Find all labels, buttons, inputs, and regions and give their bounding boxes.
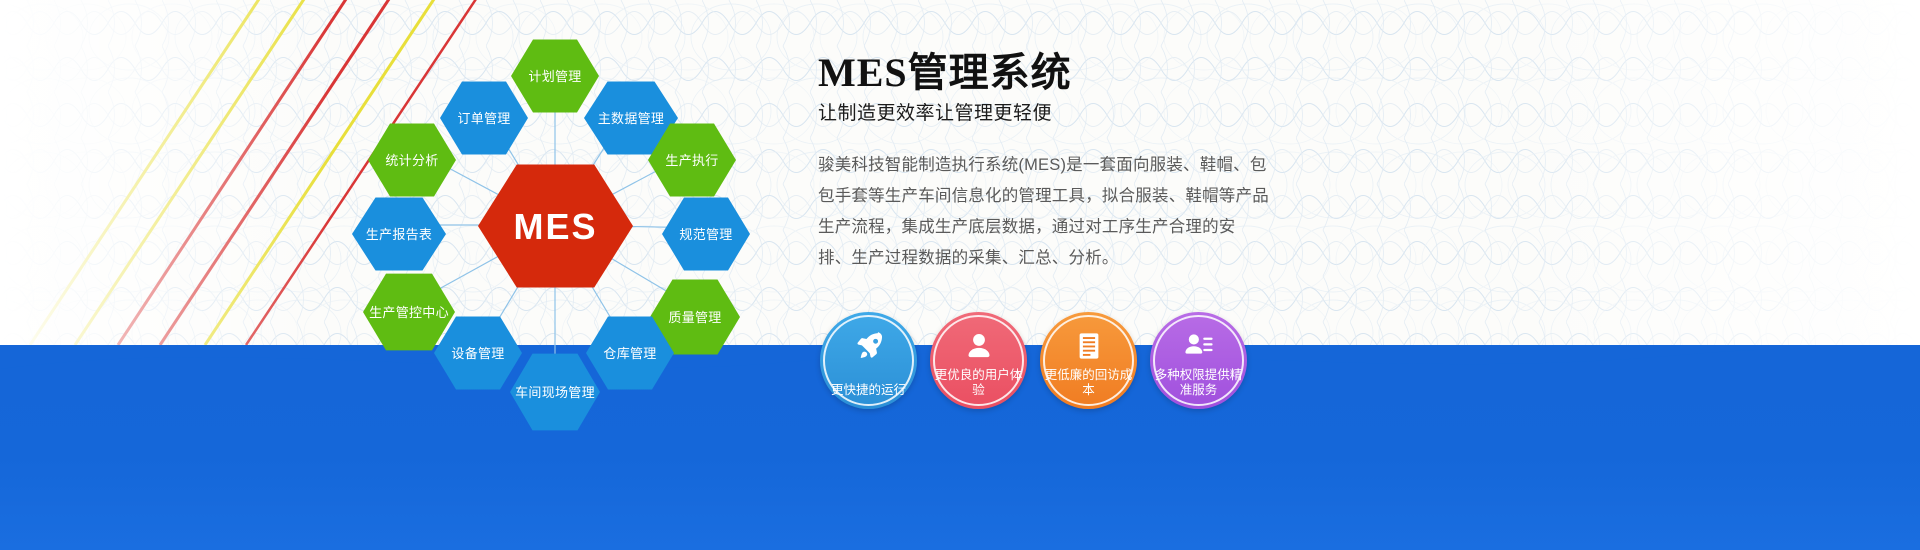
banner-text-block: MES管理系统 让制造更效率让管理更轻便 骏美科技智能制造执行系统(MES)是一… <box>818 50 1298 274</box>
badge-faster-operation[interactable]: 更快捷的运行 <box>820 312 917 409</box>
hex-label: 生产执行 <box>661 152 722 169</box>
mes-hexagon-diagram: MES 计划管理 订单管理 主数据管理 统计分析 生产执行 生产报告表 规范管理 <box>330 10 810 440</box>
user-list-icon <box>1184 331 1214 361</box>
page-subtitle: 让制造更效率让管理更轻便 <box>818 100 1298 128</box>
user-icon <box>964 331 994 361</box>
hex-label: 规范管理 <box>675 226 736 243</box>
background-fade-right <box>1500 0 1920 345</box>
badge-permission-precise-service[interactable]: 多种权限提供精准服务 <box>1150 312 1247 409</box>
hex-center-label: MES <box>509 218 601 235</box>
hex-label: 订单管理 <box>453 110 514 127</box>
banner-stage: MES 计划管理 订单管理 主数据管理 统计分析 生产执行 生产报告表 规范管理 <box>0 0 1920 550</box>
badge-label: 更快捷的运行 <box>825 383 913 398</box>
background-fade-left <box>0 0 330 345</box>
hex-label: 生产管控中心 <box>365 304 453 321</box>
document-icon <box>1074 331 1104 361</box>
badge-label: 更优良的用户体验 <box>935 368 1023 398</box>
badge-lower-revisit-cost[interactable]: 更低廉的回访成本 <box>1040 312 1137 409</box>
badge-label: 多种权限提供精准服务 <box>1155 368 1243 398</box>
hex-label: 车间现场管理 <box>511 384 599 401</box>
badge-better-user-experience[interactable]: 更优良的用户体验 <box>930 312 1027 409</box>
hex-label: 质量管理 <box>664 309 725 326</box>
page-title: MES管理系统 <box>818 50 1298 96</box>
feature-badge-list: 更快捷的运行 更优良的用户体验 更低廉的回访成本 <box>820 312 1247 409</box>
page-description: 骏美科技智能制造执行系统(MES)是一套面向服装、鞋帽、包包手套等生产车间信息化… <box>818 150 1270 274</box>
badge-label: 更低廉的回访成本 <box>1045 368 1133 398</box>
hex-label: 主数据管理 <box>594 110 669 127</box>
hex-label: 设备管理 <box>447 345 508 362</box>
rocket-icon <box>854 331 884 361</box>
hex-label: 计划管理 <box>524 68 585 85</box>
hex-label: 生产报告表 <box>362 226 437 243</box>
hex-label: 统计分析 <box>381 152 442 169</box>
hex-label: 仓库管理 <box>599 345 660 362</box>
